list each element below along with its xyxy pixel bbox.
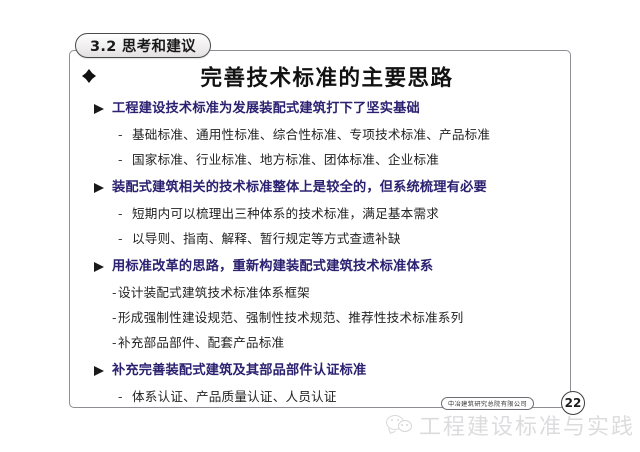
slide-body: 工程建设技术标准为发展装配式建筑打下了坚实基础-基础标准、通用性标准、综合性标准… — [92, 100, 562, 405]
block-heading-row: 工程建设技术标准为发展装配式建筑打下了坚实基础 — [92, 100, 562, 118]
content-block: 装配式建筑相关的技术标准整体上是较全的，但系统梳理有必要-短期内可以梳理出三种体… — [92, 179, 562, 247]
block-heading-row: 用标准改革的思路，重新构建装配式建筑技术标准体系 — [92, 258, 562, 276]
content-block: 用标准改革的思路，重新构建装配式建筑技术标准体系-设计装配式建筑技术标准体系框架… — [92, 258, 562, 351]
triangle-arrow-icon — [92, 101, 108, 118]
list-item: -短期内可以梳理出三种体系的技术标准，满足基本需求 — [92, 205, 562, 222]
block-heading: 用标准改革的思路，重新构建装配式建筑技术标准体系 — [112, 258, 433, 275]
main-heading-row: 完善技术标准的主要思路 — [82, 60, 562, 92]
block-heading: 装配式建筑相关的技术标准整体上是较全的，但系统梳理有必要 — [112, 179, 487, 196]
presentation-slide: 3.2 思考和建议 完善技术标准的主要思路 工程建设技术标准为发展装配式建筑打下… — [0, 0, 640, 452]
list-item-label: 设计装配式建筑技术标准体系框架 — [118, 284, 310, 301]
list-item-label: 以导则、指南、解释、暂行规定等方式查遗补缺 — [132, 230, 401, 247]
list-item: -国家标准、行业标准、地方标准、团体标准、企业标准 — [92, 151, 562, 168]
wechat-icon — [386, 414, 412, 436]
list-item-label: 短期内可以梳理出三种体系的技术标准，满足基本需求 — [132, 205, 439, 222]
dash-marker: - — [118, 205, 132, 222]
list-item: -以导则、指南、解释、暂行规定等方式查遗补缺 — [92, 230, 562, 247]
list-item-label: 体系认证、产品质量认证、人员认证 — [132, 388, 337, 405]
list-item: -形成强制性建设规范、强制性技术规范、推荐性技术标准系列 — [92, 309, 562, 326]
section-tab: 3.2 思考和建议 — [75, 33, 211, 58]
page-title: 完善技术标准的主要思路 — [102, 61, 562, 92]
watermark: 工程建设标准与实践 — [386, 409, 635, 441]
triangle-arrow-icon — [92, 180, 108, 197]
list-item: -基础标准、通用性标准、综合性标准、专项技术标准、产品标准 — [92, 126, 562, 143]
list-item-label: 基础标准、通用性标准、综合性标准、专项技术标准、产品标准 — [132, 126, 490, 143]
content-block: 工程建设技术标准为发展装配式建筑打下了坚实基础-基础标准、通用性标准、综合性标准… — [92, 100, 562, 168]
diamond-bullet-icon — [82, 69, 96, 83]
triangle-arrow-icon — [92, 259, 108, 276]
dash-marker: - — [118, 151, 132, 168]
block-heading: 工程建设技术标准为发展装配式建筑打下了坚实基础 — [112, 100, 420, 117]
dash-marker: - — [118, 126, 132, 143]
block-heading-row: 装配式建筑相关的技术标准整体上是较全的，但系统梳理有必要 — [92, 179, 562, 197]
block-heading: 补充完善装配式建筑及其部品部件认证标准 — [112, 362, 366, 379]
list-item-label: 形成强制性建设规范、强制性技术规范、推荐性技术标准系列 — [118, 309, 463, 326]
list-item: -设计装配式建筑技术标准体系框架 — [92, 284, 562, 301]
block-heading-row: 补充完善装配式建筑及其部品部件认证标准 — [92, 362, 562, 380]
list-item-label: 补充部品部件、配套产品标准 — [118, 334, 284, 351]
watermark-text: 工程建设标准与实践 — [419, 409, 635, 441]
list-item: -补充部品部件、配套产品标准 — [92, 334, 562, 351]
dash-marker: - — [118, 388, 132, 405]
list-item-label: 国家标准、行业标准、地方标准、团体标准、企业标准 — [132, 151, 439, 168]
dash-marker: - — [118, 230, 132, 247]
triangle-arrow-icon — [92, 363, 108, 380]
